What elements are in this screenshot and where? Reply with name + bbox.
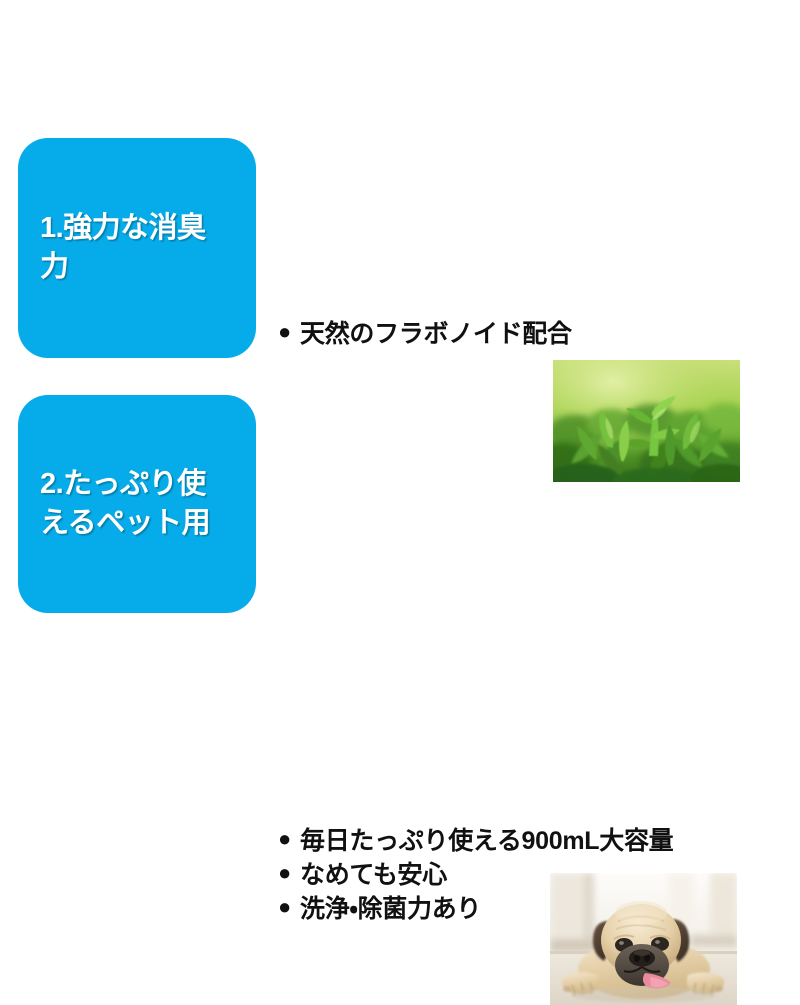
bullet-dot-icon: ● [278,827,300,850]
feature-badge-2: 2.たっぷり使えるペット用 [18,395,256,613]
list-item: ● 天然のフラボノイド配合 [278,320,572,349]
bullet-dot-icon: ● [278,320,300,343]
feature-badge-label-2: 2.たっぷり使えるペット用 [40,465,234,543]
bullet-text: 洗浄・除菌力あり [300,895,481,924]
feature-block-1: 1.強力な消臭力 ● 天然のフラボノイド配合 [0,138,800,358]
bullet-dot-icon: ● [278,861,300,884]
feature-bullet-list-1: ● 天然のフラボノイド配合 [278,320,572,354]
bullet-text: 毎日たっぷり使える900mL大容量 [300,827,673,856]
feature-badge-1: 1.強力な消臭力 [18,138,256,358]
feature-slide: 1.強力な消臭力 ● 天然のフラボノイド配合 [0,0,800,800]
list-item: ● 毎日たっぷり使える900mL大容量 [278,827,673,856]
bullet-dot-icon: ● [278,895,300,918]
feature-block-2: 2.たっぷり使えるペット用 ● 毎日たっぷり使える900mL大容量 ● なめても… [0,395,800,613]
pug-dog-photo [550,873,737,1005]
bullet-text: 天然のフラボノイド配合 [300,320,572,349]
pug-dog-image [550,873,737,1005]
feature-badge-label-1: 1.強力な消臭力 [40,209,234,287]
bullet-text: なめても安心 [300,861,447,890]
